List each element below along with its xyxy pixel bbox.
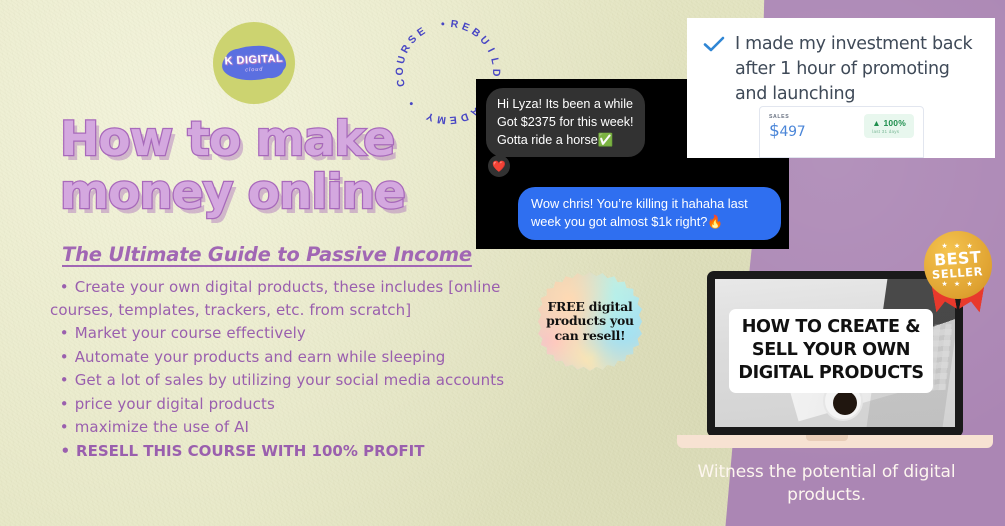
list-item: •Automate your products and earn while s… [50, 346, 505, 369]
caption-line-1: Witness the potential of digital [660, 461, 993, 484]
sales-change-period: last 31 days [872, 129, 906, 134]
best-seller-medal: ★ ★ ★ BEST SELLER ★ ★ ★ [924, 231, 992, 299]
cloud-icon: K DIGITAL cloud [221, 44, 287, 81]
list-item-text: Market your course effectively [75, 324, 306, 342]
logo-main-text: K DIGITAL [224, 52, 283, 67]
caption-line-2: products. [660, 484, 993, 507]
feature-list: •Create your own digital products, these… [50, 276, 505, 463]
bullet-dot-icon: • [50, 278, 69, 296]
list-item-text: Get a lot of sales by utilizing your soc… [75, 371, 504, 389]
testimonial-header: I made my investment back after 1 hour o… [703, 32, 979, 107]
circular-text-char: R [399, 42, 413, 55]
list-item-text: price your digital products [75, 395, 275, 413]
sales-amount: $497 [769, 121, 805, 141]
sales-change-percent: ▲ 100% [872, 118, 906, 128]
laptop-notch [806, 435, 848, 441]
footer-caption: Witness the potential of digital product… [660, 461, 993, 507]
bullet-dot-icon: • [50, 348, 69, 366]
heart-reaction-icon: ❤️ [488, 155, 510, 177]
free-badge-line-3: can resell! [555, 328, 626, 343]
page-subtitle: The Ultimate Guide to Passive Income [62, 243, 472, 266]
circular-text-char: L [488, 57, 501, 66]
list-item-text: RESELL THIS COURSE WITH 100% PROFIT [76, 442, 424, 460]
bullet-dot-icon: • [50, 442, 70, 460]
bullet-dot-icon: • [50, 324, 69, 342]
circular-text-char: D [490, 69, 502, 77]
testimonial-card: I made my investment back after 1 hour o… [687, 18, 995, 158]
free-badge-line-2: products you [546, 313, 634, 328]
free-badge-line-1: FREE digital [547, 299, 632, 314]
sales-label: SALES [769, 114, 805, 120]
sales-figure-group: SALES $497 [769, 114, 805, 141]
circular-text-char: C [394, 77, 407, 88]
sales-number: 497 [780, 124, 806, 140]
list-item: •Get a lot of sales by utilizing your so… [50, 369, 505, 392]
circular-text-char: I [485, 46, 497, 54]
bullet-dot-icon: • [50, 395, 69, 413]
best-seller-seller-text: SELLER [932, 265, 984, 282]
circular-text-char: U [395, 54, 409, 65]
course-title-line-1: HOW TO CREATE & [735, 316, 927, 339]
poster-canvas: K DIGITAL cloud REBUILDACADEMY•COURSE• H… [0, 0, 1005, 526]
chat-incoming-line-3: Gotta ride a horse✅ [497, 131, 634, 149]
bullet-dot-icon: • [50, 371, 69, 389]
best-seller-badge: ★ ★ ★ BEST SELLER ★ ★ ★ [921, 231, 995, 305]
list-item: •RESELL THIS COURSE WITH 100% PROFIT [50, 440, 505, 463]
list-item: •Create your own digital products, these… [50, 276, 505, 321]
sales-widget: SALES $497 ▲ 100% last 31 days [759, 106, 924, 158]
headline-line-1: How to make [60, 113, 460, 166]
free-badge-text: FREE digital products you can resell! [546, 300, 634, 344]
chat-bubble-incoming: Hi Lyza! Its been a while Got $2375 for … [486, 88, 645, 157]
course-title-line-3: DIGITAL PRODUCTS [735, 362, 927, 385]
circular-text-char: R [450, 18, 460, 31]
chat-incoming-line-2: Got $2375 for this week! [497, 113, 634, 131]
bullet-dot-icon: • [50, 418, 69, 436]
stars-bottom-icon: ★ ★ ★ [941, 280, 974, 288]
logo-sub-text: cloud [245, 66, 263, 73]
brand-logo: K DIGITAL cloud [213, 22, 295, 104]
circular-text-char: D [458, 110, 470, 124]
course-thumbnail-title: HOW TO CREATE & SELL YOUR OWN DIGITAL PR… [729, 309, 933, 393]
course-title-line-2: SELL YOUR OWN [735, 339, 927, 362]
page-title: How to make money online [60, 113, 460, 219]
laptop-screen: HOW TO CREATE & SELL YOUR OWN DIGITAL PR… [715, 279, 955, 427]
circular-text-char: O [394, 67, 406, 76]
sales-change-badge: ▲ 100% last 31 days [864, 114, 914, 138]
chat-bubble-outgoing: Wow chris! You’re killing it hahaha last… [518, 187, 781, 240]
list-item: •price your digital products [50, 393, 505, 416]
testimonial-quote: I made my investment back after 1 hour o… [735, 32, 979, 107]
circular-text-char: U [477, 34, 491, 48]
circular-text-char: S [406, 33, 420, 47]
sales-currency: $ [769, 121, 780, 141]
list-item-text: Create your own digital products, these … [50, 278, 501, 319]
chat-incoming-line-1: Hi Lyza! Its been a while [497, 95, 634, 113]
headline-line-2: money online [60, 166, 460, 219]
list-item-text: Automate your products and earn while sl… [75, 348, 446, 366]
list-item: •maximize the use of AI [50, 416, 505, 439]
list-item-text: maximize the use of AI [75, 418, 249, 436]
check-icon [703, 36, 725, 57]
circular-text-char: • [406, 98, 418, 109]
circular-text-char: • [440, 18, 445, 30]
list-item: •Market your course effectively [50, 322, 505, 345]
circular-text-char: E [415, 25, 428, 39]
